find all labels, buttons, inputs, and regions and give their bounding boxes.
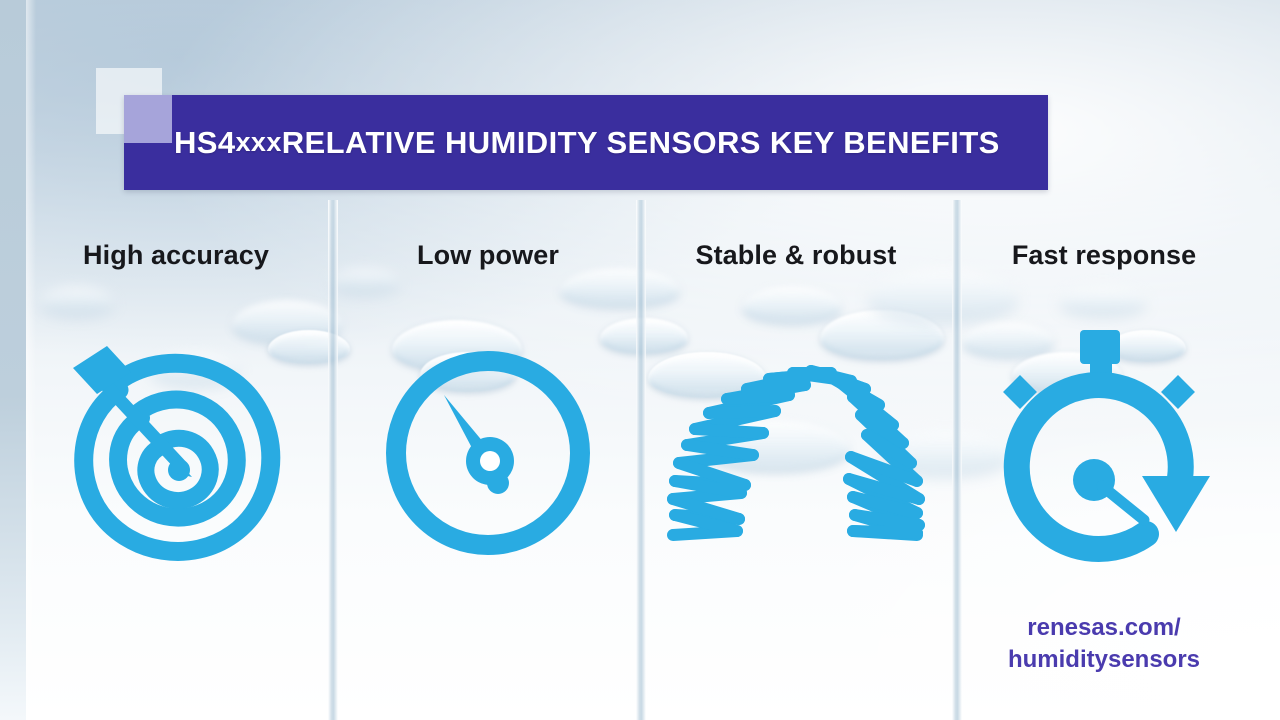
page-title-variant: xxx bbox=[236, 127, 282, 158]
spring-arch-icon bbox=[638, 318, 954, 588]
benefit-label-3: Fast response bbox=[946, 240, 1262, 271]
page-title: HS4xxx RELATIVE HUMIDITY SENSORS KEY BEN… bbox=[174, 95, 1000, 190]
website-url[interactable]: renesas.com/ humiditysensors bbox=[946, 612, 1262, 675]
benefit-label-1: Low power bbox=[330, 240, 646, 271]
benefit-label-2: Stable & robust bbox=[638, 240, 954, 271]
page-title-prefix: HS4 bbox=[174, 125, 236, 161]
target-dart-icon bbox=[18, 318, 334, 588]
benefit-column-fast-response: Fast response bbox=[946, 240, 1262, 271]
url-line-1: renesas.com/ bbox=[946, 612, 1262, 644]
benefit-column-stable-robust: Stable & robust bbox=[638, 240, 954, 271]
benefit-label-0: High accuracy bbox=[18, 240, 334, 271]
stopwatch-arrow-icon bbox=[946, 318, 1262, 588]
gauge-dial-icon bbox=[330, 318, 646, 588]
slide-canvas: HS4xxx RELATIVE HUMIDITY SENSORS KEY BEN… bbox=[0, 0, 1280, 720]
url-line-2: humiditysensors bbox=[946, 644, 1262, 676]
benefit-column-high-accuracy: High accuracy bbox=[18, 240, 334, 271]
benefit-column-low-power: Low power bbox=[330, 240, 646, 271]
page-title-rest: RELATIVE HUMIDITY SENSORS KEY BENEFITS bbox=[282, 125, 1000, 161]
decorative-square-violet bbox=[124, 95, 172, 143]
